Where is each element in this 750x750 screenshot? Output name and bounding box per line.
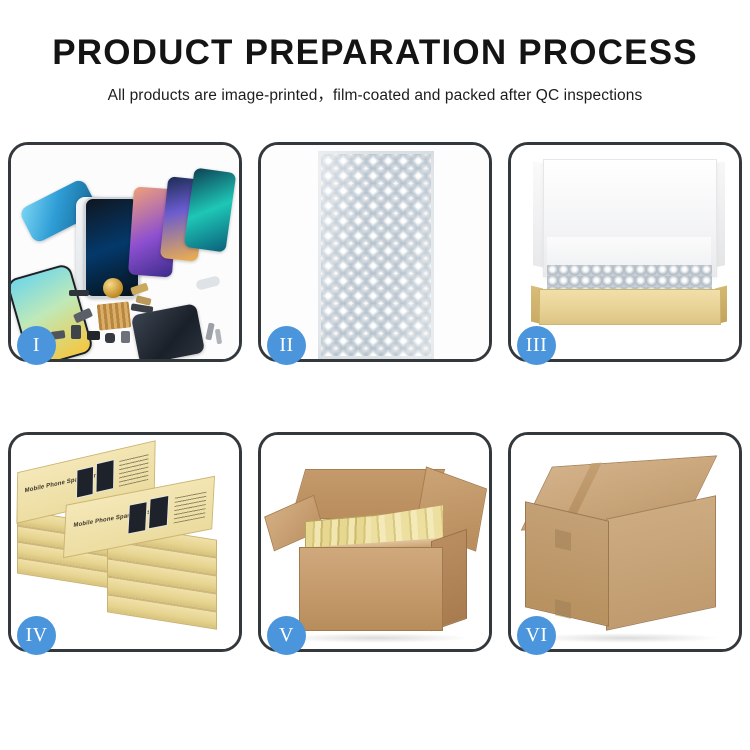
sealed-carton-scene [511,435,739,649]
spare-part [121,331,130,343]
spare-part [69,290,89,296]
step-badge-3: III [517,326,556,365]
carton-shadow [531,633,721,643]
spare-part [215,329,222,345]
box-kraft-body [539,289,721,325]
step-6-image [511,435,739,649]
step-1-image [11,145,239,359]
bubble-wrap-gloss [318,151,434,359]
process-step-card-4: Mobile Phone Spare Parts Mobile Phone Sp… [8,432,242,652]
spare-part [131,303,154,313]
step-badge-2: II [267,326,306,365]
step-badge-1: I [17,326,56,365]
box-spec-lines [174,490,207,524]
box-artwork-screen [127,501,147,534]
step-5-image [261,435,489,649]
spare-part [71,325,81,339]
step-2-image [261,145,489,359]
open-carton-scene [261,435,489,649]
spare-part [105,333,115,343]
box-spec-lines [119,453,149,487]
process-step-card-2: II [258,142,492,362]
process-step-card-5: V [258,432,492,652]
phone-parts-scene [11,145,239,359]
carton-tape-patch [555,529,571,551]
speaker-coil-part [103,278,123,298]
carton-right-face [606,495,716,630]
step-4-image: Mobile Phone Spare Parts Mobile Phone Sp… [11,435,239,649]
step-badge-4: IV [17,616,56,655]
carton-shadow [281,633,471,643]
process-step-card-6: VI [508,432,742,652]
spare-part [195,275,221,291]
step-3-image [511,145,739,359]
page-subtitle: All products are image-printed，film-coat… [0,83,750,105]
box-bubble-contents [547,265,712,291]
carton-front-face [299,547,443,631]
bubble-wrap-scene [261,145,489,359]
box-artwork-screen [96,459,115,493]
page-title: PRODUCT PREPARATION PROCESS [0,32,750,74]
spare-part [205,323,214,341]
connector-chip-grid [97,301,132,330]
header: PRODUCT PREPARATION PROCESS All products… [0,32,750,105]
bubble-wrap-sheet [318,151,434,359]
process-step-card-1: I [8,142,242,362]
box-artwork-screen [76,466,94,499]
process-step-card-3: III [508,142,742,362]
spare-part [87,331,100,340]
step-badge-5: V [267,616,306,655]
stacked-boxes-scene: Mobile Phone Spare Parts Mobile Phone Sp… [11,435,239,649]
step-badge-6: VI [517,616,556,655]
carton-tape-patch [555,599,571,619]
product-preparation-infographic: PRODUCT PREPARATION PROCESS All products… [0,0,750,750]
box-artwork-screen [148,495,169,530]
inner-box-scene [511,145,739,359]
process-step-grid: I II [8,142,742,722]
